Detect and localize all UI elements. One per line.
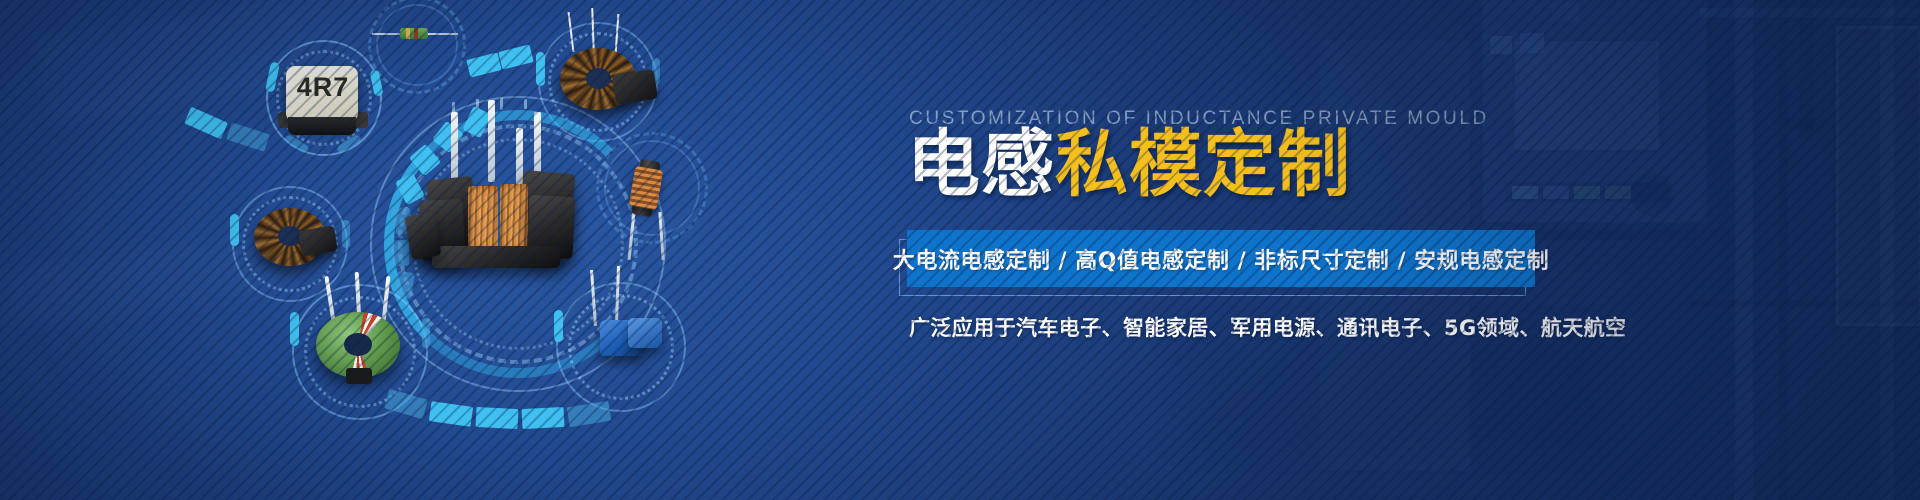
banner-copy: CUSTOMIZATION OF INDUCTANCE PRIVATE MOUL… xyxy=(907,0,1607,500)
factory-rod xyxy=(1785,118,1829,130)
choke-pin xyxy=(488,100,495,182)
factory-post xyxy=(1735,0,1753,500)
feature-bar-wrapper: 大电流电感定制 / 高Q值电感定制 / 非标尺寸定制 / 安规电感定制 xyxy=(907,230,1542,290)
hud-arc-chunk xyxy=(409,144,441,177)
factory-frame xyxy=(1836,26,1920,326)
hud-sweep-segment xyxy=(522,407,565,429)
toroid-base-block xyxy=(346,368,372,384)
machine-indicator xyxy=(1605,186,1631,199)
factory-post xyxy=(1880,0,1894,500)
hud-arc-segment xyxy=(290,312,299,346)
toroid-base-block xyxy=(612,69,658,105)
page-title: 电感私模定制 xyxy=(907,128,1351,201)
machine-knob-shape xyxy=(1630,172,1674,216)
factory-rod xyxy=(1800,0,1814,140)
toroid-base-block xyxy=(298,225,338,256)
smd-part-code: 4R7 xyxy=(290,72,356,103)
factory-beam xyxy=(1700,8,1920,17)
hud-sweep-segment xyxy=(184,107,228,140)
hud-arc-chunk xyxy=(395,173,425,205)
hud-arc-segment xyxy=(284,134,310,155)
hud-arc-segment xyxy=(422,318,430,348)
applications-line: 广泛应用于汽车电子、智能家居、军用电源、通讯电子、5G领域、航天航空 xyxy=(909,312,1626,342)
factory-beam xyxy=(1690,300,1920,307)
headline-part-gold: 私模定制 xyxy=(1055,122,1351,207)
hud-arc-segment xyxy=(342,220,350,248)
toroid-lead xyxy=(591,8,595,52)
hud-sweep-segment xyxy=(567,401,612,427)
factory-post xyxy=(1778,0,1788,500)
hud-tick xyxy=(500,97,503,110)
toroid-lead xyxy=(382,276,391,322)
hud-bar xyxy=(498,44,533,69)
hud-sweep-segment xyxy=(429,401,473,427)
hud-arc-chunk xyxy=(394,271,414,299)
feature-bar-text: 大电流电感定制 / 高Q值电感定制 / 非标尺寸定制 / 安规电感定制 xyxy=(893,243,1549,275)
headline-part-white: 电感 xyxy=(907,122,1055,207)
radial-choke-body-secondary xyxy=(628,318,662,348)
hud-sweep-segment xyxy=(226,122,270,151)
axial-color-band xyxy=(414,28,418,39)
hud-tick xyxy=(524,99,527,109)
hud-bar xyxy=(466,52,501,77)
hud-arc-chunk xyxy=(392,240,410,267)
hud-ring-axial xyxy=(376,4,458,86)
hud-arc-segment xyxy=(230,214,239,246)
toroid-lead xyxy=(568,12,575,52)
toroid-core-hole xyxy=(344,333,372,356)
axial-color-band xyxy=(406,28,410,39)
radial-choke-lead xyxy=(590,270,597,326)
hud-arc-segment xyxy=(554,310,563,342)
hud-arc-segment xyxy=(265,61,280,92)
toroid-core-hole xyxy=(586,68,611,89)
toroid-lead xyxy=(615,14,620,54)
feature-bar[interactable]: 大电流电感定制 / 高Q值电感定制 / 非标尺寸定制 / 安规电感定制 xyxy=(907,230,1535,287)
rod-choke-lead xyxy=(658,212,664,260)
hud-sweep-segment xyxy=(384,389,428,419)
choke-pin xyxy=(451,112,458,182)
choke-base xyxy=(432,246,560,268)
radial-choke-lead xyxy=(615,266,620,324)
promo-banner: 4R7 xyxy=(0,0,1920,500)
rod-choke-lead xyxy=(627,212,635,260)
axial-lead xyxy=(428,33,458,35)
toroid-lead xyxy=(324,276,335,322)
hud-arc-segment xyxy=(536,52,545,86)
hud-arc-segment xyxy=(369,69,383,96)
hud-arc-segment xyxy=(336,134,362,155)
axial-lead xyxy=(372,33,402,35)
hud-arc-chunk xyxy=(432,121,464,153)
hud-sweep-segment xyxy=(476,407,519,429)
hud-ring-axial-outer xyxy=(368,0,466,94)
rod-choke-coil xyxy=(629,166,664,210)
